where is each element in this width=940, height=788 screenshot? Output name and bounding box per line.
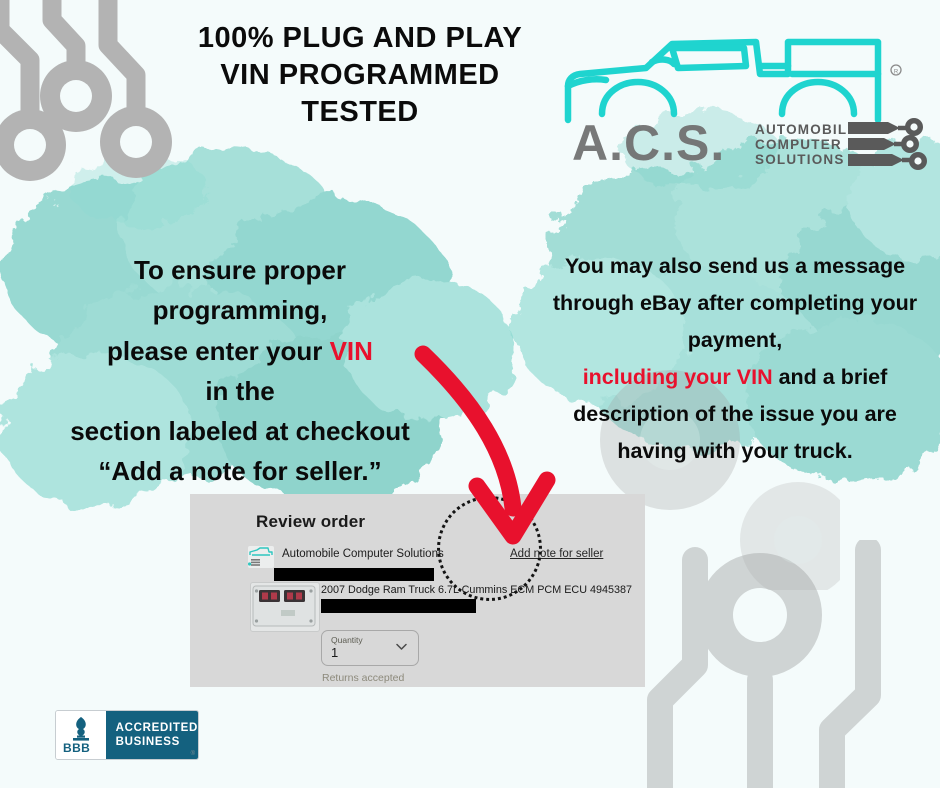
bbb-right-section: ACCREDITED BUSINESS (106, 711, 198, 759)
right-line-4: including your VIN and a brief (540, 359, 930, 396)
bbb-accredited-business-badge: BBB ACCREDITED BUSINESS ® (55, 710, 199, 760)
right-line-5: description of the issue you are (540, 396, 930, 433)
quantity-select[interactable]: Quantity 1 (321, 630, 419, 666)
left-line-3: please enter your VIN (20, 331, 460, 371)
vin-highlight-right: including your VIN (583, 365, 773, 389)
right-line-1: You may also send us a message (540, 248, 930, 285)
poster-canvas: 100% PLUG AND PLAY VIN PROGRAMMED TESTED… (0, 0, 940, 788)
svg-text:R: R (894, 70, 899, 76)
seller-avatar (248, 546, 274, 568)
right-line-6: having with your truck. (540, 433, 930, 470)
bbb-torch-icon (66, 716, 96, 742)
left-line-6: “Add a note for seller.” (20, 451, 460, 491)
bbb-mark-text: BBB (63, 741, 90, 755)
bbb-registered-mark: ® (191, 751, 195, 757)
headline-line-2: VIN PROGRAMMED (110, 57, 610, 94)
quantity-label: Quantity (331, 635, 363, 645)
headline-line-3: TESTED (110, 94, 610, 131)
right-line-4-text: and a brief (773, 365, 888, 389)
headline-line-1: 100% PLUG AND PLAY (110, 20, 610, 57)
right-instruction-block: You may also send us a message through e… (540, 248, 930, 470)
right-line-2: through eBay after completing your (540, 285, 930, 322)
ecu-module-icon (251, 583, 317, 629)
logo-acs-text: A.C.S. (572, 114, 725, 172)
review-order-title: Review order (256, 512, 365, 532)
left-line-1: To ensure proper (20, 250, 460, 290)
logo-word-automobile: AUTOMOBILE (755, 122, 858, 137)
logo-circuit-icon (848, 118, 932, 170)
left-line-4: in the (20, 371, 460, 411)
left-line-5: section labeled at checkout (20, 411, 460, 451)
logo-word-computer: COMPUTER (755, 137, 858, 152)
red-arrow-annotation-icon (395, 340, 575, 570)
quantity-value: 1 (331, 645, 338, 660)
product-thumbnail (250, 582, 320, 632)
chevron-down-icon (396, 643, 407, 651)
seller-logo-icon (248, 546, 274, 568)
page-headline: 100% PLUG AND PLAY VIN PROGRAMMED TESTED (110, 20, 610, 131)
left-instruction-block: To ensure proper programming, please ent… (20, 250, 460, 492)
bbb-accredited-label: ACCREDITED (116, 721, 198, 735)
left-line-3-text: please enter your (107, 336, 330, 366)
bbb-business-label: BUSINESS (116, 735, 198, 749)
acs-logo: R A.C.S. AUTOMOBILE COMPUTER SOLUTIONS (560, 28, 930, 168)
bbb-left-section: BBB (56, 711, 106, 759)
right-line-3: payment, (540, 322, 930, 359)
vin-highlight: VIN (330, 336, 373, 366)
logo-word-solutions: SOLUTIONS (755, 152, 858, 167)
left-line-2: programming, (20, 290, 460, 330)
returns-accepted-text: Returns accepted (322, 672, 404, 684)
logo-wordmark: AUTOMOBILE COMPUTER SOLUTIONS (755, 122, 858, 167)
redaction-bar-price (321, 599, 476, 613)
